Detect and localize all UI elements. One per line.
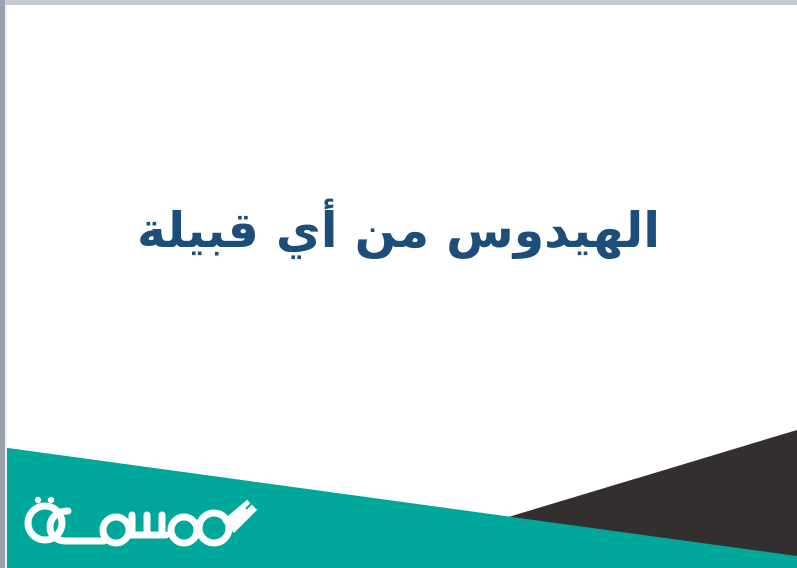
top-edge-bar bbox=[0, 0, 797, 5]
logo-glyph-seen bbox=[130, 515, 166, 535]
slide-canvas: الهيدوس من أي قبيلة bbox=[0, 0, 797, 568]
charcoal-wedge bbox=[505, 430, 797, 561]
page-title: الهيدوس من أي قبيلة bbox=[137, 198, 660, 264]
logo-dots bbox=[35, 497, 54, 503]
left-edge-bar bbox=[0, 0, 5, 568]
logo-glyph-ain bbox=[50, 511, 88, 541]
left-edge-inner-highlight bbox=[5, 5, 7, 568]
logo-glyph-waw-2 bbox=[171, 517, 197, 543]
logo-glyph-waw bbox=[103, 517, 129, 543]
brand-logo-mark bbox=[8, 487, 270, 559]
headline-region: الهيدوس من أي قبيلة bbox=[0, 0, 797, 447]
brand-logo[interactable] bbox=[8, 487, 270, 559]
logo-glyph-meem bbox=[199, 513, 229, 543]
